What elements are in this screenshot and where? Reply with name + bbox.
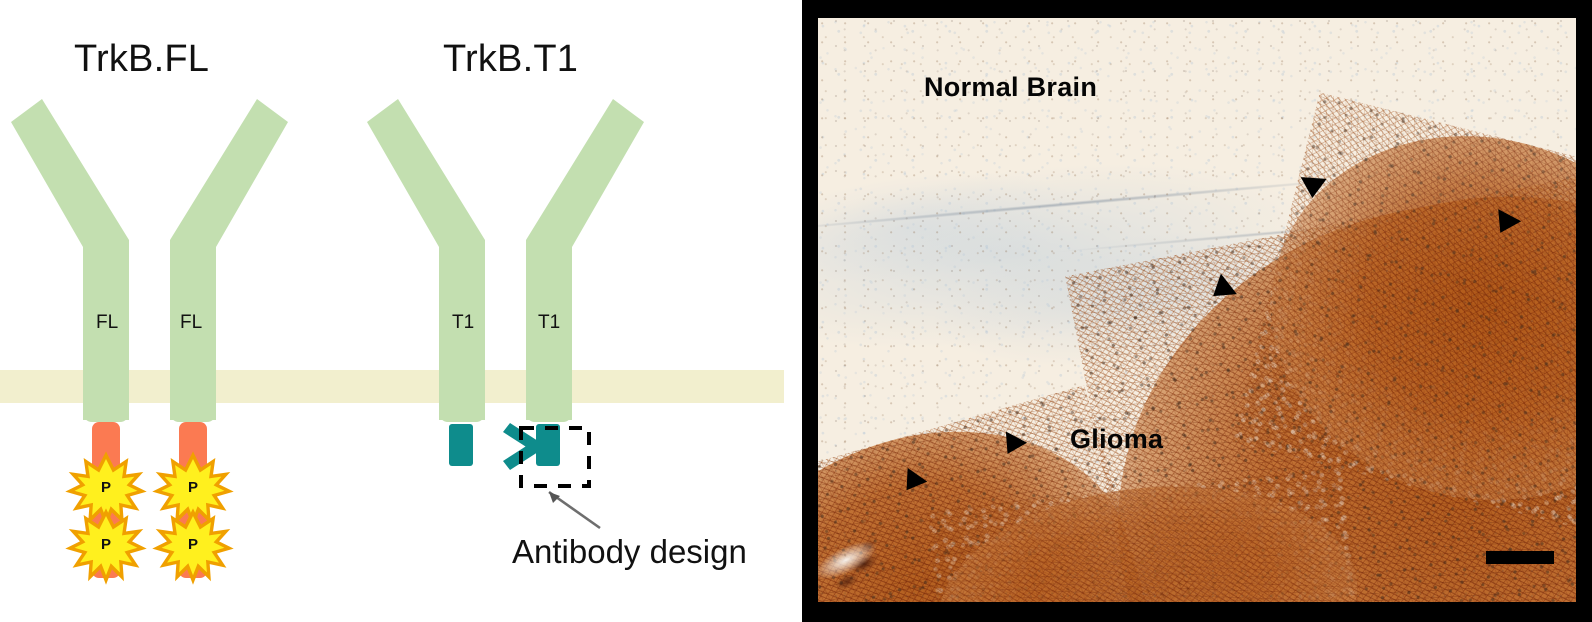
phosphorylation-marks: [70, 455, 229, 580]
border-arrowhead-icon: [1299, 177, 1326, 199]
domain-label-t1-left: T1: [452, 312, 474, 334]
immunohistochemistry-panel: Normal Brain Glioma: [802, 0, 1592, 622]
isoform-title-trkb-fl: TrkB.FL: [74, 38, 209, 81]
antibody-fc-stem: [528, 440, 546, 453]
fine-debris-speckle-layer: [818, 18, 1576, 602]
antibody-callout-arrow: [549, 492, 600, 528]
domain-label-t1-right: T1: [538, 312, 560, 334]
scale-bar: [1486, 551, 1554, 564]
figure-container: TrkB.FL TrkB.T1 FL FL T1 T1 P P P P Anti…: [0, 0, 1592, 622]
trkb-isoform-schematic-panel: TrkB.FL TrkB.T1 FL FL T1 T1 P P P P Anti…: [0, 0, 790, 622]
phospho-starburst: [157, 512, 229, 580]
domain-label-fl-right: FL: [180, 312, 202, 334]
trkb-t1-monomer-left: [367, 99, 485, 466]
isoform-title-trkb-t1: TrkB.T1: [443, 38, 578, 81]
domain-label-fl-left: FL: [96, 312, 118, 334]
phospho-starburst: [70, 512, 142, 580]
region-label-glioma: Glioma: [1070, 424, 1163, 455]
truncated-c-terminal-tail: [449, 424, 473, 466]
schematic-drawing: [0, 0, 790, 622]
region-label-normal-brain: Normal Brain: [924, 72, 1097, 103]
tissue-micrograph: Normal Brain Glioma: [818, 18, 1576, 602]
antibody-design-caption: Antibody design: [512, 533, 747, 571]
trkb-t1-monomer-right: [526, 99, 644, 466]
